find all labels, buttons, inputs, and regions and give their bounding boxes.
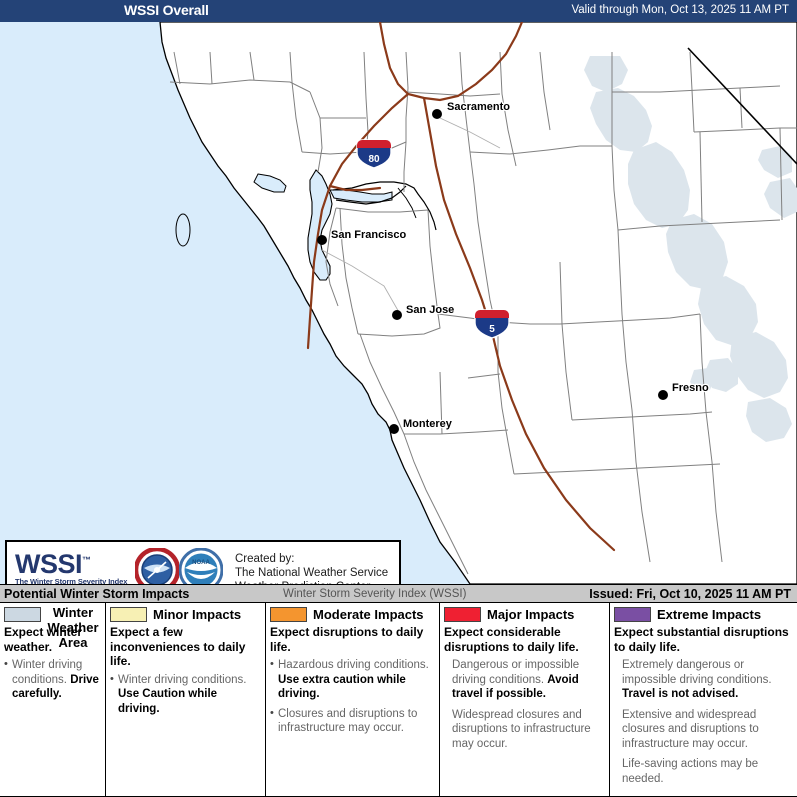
legend-bullet-emphasis: Drive carefully. bbox=[12, 674, 99, 701]
legend-swatch-minor-impacts bbox=[110, 607, 147, 622]
legend-bullets-extreme-impacts: Extremely dangerous or impossible drivin… bbox=[614, 658, 792, 786]
legend-title-moderate-impacts: Moderate Impacts bbox=[313, 607, 424, 622]
legend-bullet-item: Extensive and widespread closures and di… bbox=[614, 708, 792, 752]
header-bar: WSSI Overall Valid through Mon, Oct 13, … bbox=[0, 0, 797, 22]
legend-title-extreme-impacts: Extreme Impacts bbox=[657, 607, 761, 622]
map-canvas[interactable]: 80 5 Sacramento San Francisco San Jose M… bbox=[0, 22, 797, 584]
svg-text:NOAA: NOAA bbox=[192, 560, 210, 566]
legend-header-major-impacts: Major Impacts bbox=[444, 605, 604, 623]
legend-bullets-moderate-impacts: Hazardous driving conditions. Use extra … bbox=[270, 658, 434, 736]
legend-intro-minor-impacts: Expect a few inconveniences to daily lif… bbox=[110, 625, 260, 669]
credit-panel: WSSI™ The Winter Storm Severity Index bbox=[5, 540, 401, 584]
city-label-san-francisco: San Francisco bbox=[331, 229, 406, 241]
nws-seal-icon bbox=[135, 548, 179, 584]
wssi-wordmark: WSSI™ bbox=[15, 546, 133, 578]
shield-label-5: 5 bbox=[489, 324, 495, 335]
valid-through-text: Valid through Mon, Oct 13, 2025 11 AM PT bbox=[571, 4, 789, 16]
impacts-legend: Winter Weather AreaExpect winter weather… bbox=[0, 603, 797, 797]
legend-swatch-major-impacts bbox=[444, 607, 481, 622]
legend-column-moderate-impacts: Moderate ImpactsExpect disruptions to da… bbox=[266, 603, 440, 797]
legend-header-extreme-impacts: Extreme Impacts bbox=[614, 605, 792, 623]
shield-label-80: 80 bbox=[368, 154, 380, 165]
strip-title: Potential Winter Storm Impacts bbox=[4, 587, 189, 601]
legend-intro-moderate-impacts: Expect disruptions to daily life. bbox=[270, 625, 434, 654]
wssi-tagline: The Winter Storm Severity Index bbox=[15, 577, 133, 584]
impacts-strip: Potential Winter Storm Impacts Winter St… bbox=[0, 584, 797, 603]
legend-bullet-emphasis: Use extra caution while driving. bbox=[278, 674, 406, 701]
legend-column-minor-impacts: Minor ImpactsExpect a few inconveniences… bbox=[106, 603, 266, 797]
legend-column-winter-weather-area: Winter Weather AreaExpect winter weather… bbox=[0, 603, 106, 797]
city-dot-sacramento bbox=[432, 109, 442, 119]
city-dot-san-jose bbox=[392, 310, 402, 320]
legend-intro-major-impacts: Expect considerable disruptions to daily… bbox=[444, 625, 604, 654]
legend-header-moderate-impacts: Moderate Impacts bbox=[270, 605, 434, 623]
legend-bullets-minor-impacts: Winter driving conditions. Use Caution w… bbox=[110, 673, 260, 717]
legend-column-major-impacts: Major ImpactsExpect considerable disrupt… bbox=[440, 603, 610, 797]
city-label-sacramento: Sacramento bbox=[447, 101, 510, 113]
legend-title-major-impacts: Major Impacts bbox=[487, 607, 574, 622]
legend-bullet-emphasis: Use Caution while driving. bbox=[118, 688, 217, 715]
legend-intro-extreme-impacts: Expect substantial disruptions to daily … bbox=[614, 625, 792, 654]
legend-column-extreme-impacts: Extreme ImpactsExpect substantial disrup… bbox=[610, 603, 797, 797]
city-label-monterey: Monterey bbox=[403, 418, 453, 430]
legend-bullet-item: Extremely dangerous or impossible drivin… bbox=[614, 658, 792, 702]
legend-bullet-emphasis: Travel is not advised. bbox=[622, 688, 738, 700]
strip-subtitle: Winter Storm Severity Index (WSSI) bbox=[283, 588, 466, 600]
legend-bullets-major-impacts: Dangerous or impossible driving conditio… bbox=[444, 658, 604, 751]
legend-bullet-item: Dangerous or impossible driving conditio… bbox=[444, 658, 604, 702]
legend-bullets-winter-weather-area: Winter driving conditions. Drive careful… bbox=[4, 658, 100, 702]
legend-bullet-item: Hazardous driving conditions. Use extra … bbox=[270, 658, 434, 702]
map-graphic: 80 5 Sacramento San Francisco San Jose M… bbox=[0, 22, 797, 584]
noaa-seal-icon: NOAA bbox=[179, 548, 223, 584]
created-by-block: Created by: The National Weather Service… bbox=[235, 552, 388, 584]
wssi-wordmark-text: WSSI bbox=[15, 549, 82, 579]
legend-bullet-item: Winter driving conditions. Use Caution w… bbox=[110, 673, 260, 717]
legend-bullet-emphasis: Avoid travel if possible. bbox=[452, 674, 579, 701]
city-dot-fresno bbox=[658, 390, 668, 400]
page-title: WSSI Overall bbox=[124, 2, 209, 18]
legend-swatch-moderate-impacts bbox=[270, 607, 307, 622]
created-by-line-2: The National Weather Service bbox=[235, 566, 388, 580]
wssi-logo: WSSI™ The Winter Storm Severity Index bbox=[15, 546, 133, 584]
city-label-fresno: Fresno bbox=[672, 382, 709, 394]
wssi-map-page: WSSI Overall Valid through Mon, Oct 13, … bbox=[0, 0, 797, 797]
wssi-trademark: ™ bbox=[82, 555, 91, 565]
legend-bullet-item: Widespread closures and disruptions to i… bbox=[444, 708, 604, 752]
legend-header-minor-impacts: Minor Impacts bbox=[110, 605, 260, 623]
legend-bullet-item: Closures and disruptions to infrastructu… bbox=[270, 707, 434, 736]
city-dot-monterey bbox=[389, 424, 399, 434]
legend-swatch-winter-weather-area bbox=[4, 607, 41, 622]
legend-header-winter-weather-area: Winter Weather Area bbox=[4, 605, 100, 623]
legend-bullet-item: Winter driving conditions. Drive careful… bbox=[4, 658, 100, 702]
legend-swatch-extreme-impacts bbox=[614, 607, 651, 622]
issued-text: Issued: Fri, Oct 10, 2025 11 AM PT bbox=[589, 587, 791, 601]
legend-title-minor-impacts: Minor Impacts bbox=[153, 607, 241, 622]
legend-bullet-item: Life-saving actions may be needed. bbox=[614, 757, 792, 786]
created-by-line-1: Created by: bbox=[235, 552, 388, 566]
city-dot-san-francisco bbox=[317, 235, 327, 245]
city-label-san-jose: San Jose bbox=[406, 304, 454, 316]
